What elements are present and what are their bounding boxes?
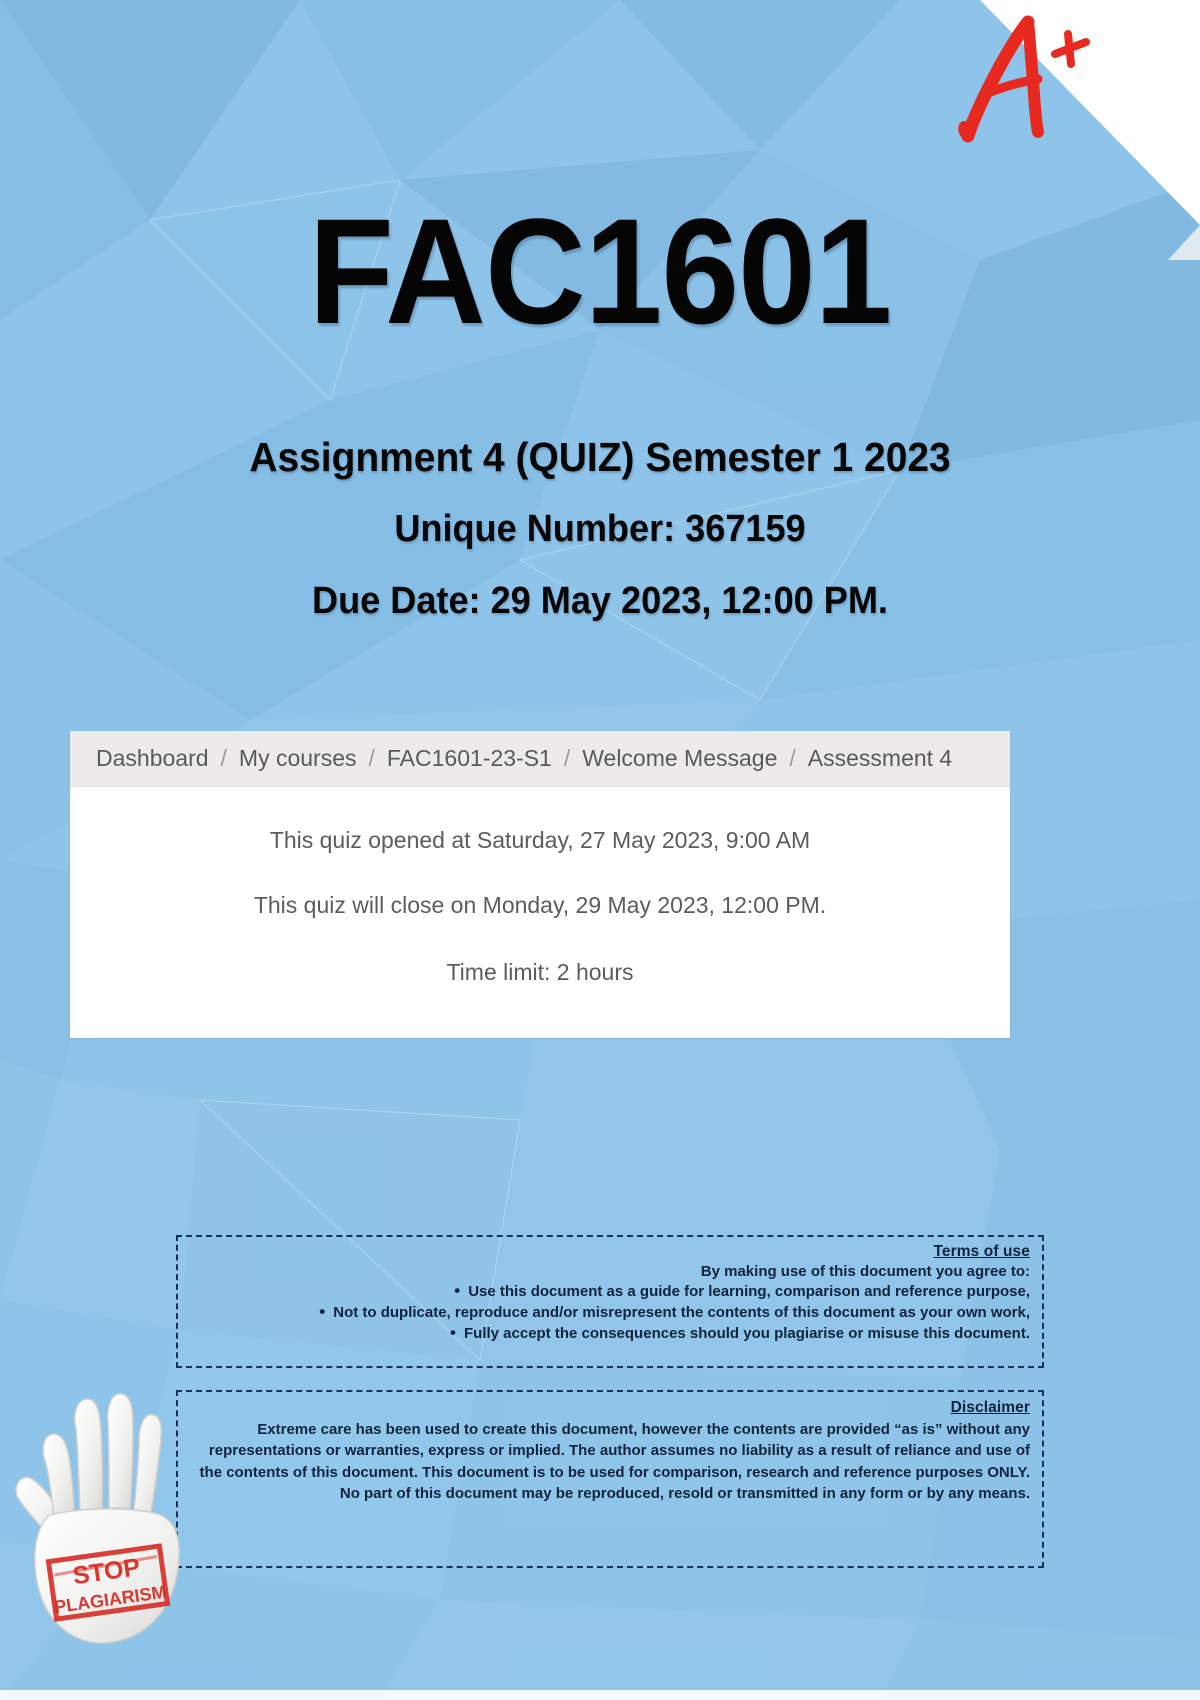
breadcrumb-separator: / <box>369 745 375 772</box>
unique-number: Unique Number: 367159 <box>30 508 1170 551</box>
terms-item-text: Fully accept the consequences should you… <box>464 1325 1030 1342</box>
breadcrumb-item-dashboard[interactable]: Dashboard <box>96 745 209 772</box>
breadcrumb-separator: / <box>221 745 227 772</box>
breadcrumb-item-my-courses[interactable]: My courses <box>239 745 357 772</box>
disclaimer-body: Extreme care has been used to create thi… <box>186 1419 1030 1504</box>
terms-lead: By making use of this document you agree… <box>186 1263 1030 1280</box>
moodle-quiz-card: Dashboard / My courses / FAC1601-23-S1 /… <box>70 731 1010 1038</box>
disclaimer-box: Disclaimer Extreme care has been used to… <box>176 1390 1044 1568</box>
page-title: FAC1601 <box>42 196 1158 346</box>
bullet-icon: • <box>454 1282 460 1299</box>
breadcrumb-separator: / <box>789 745 795 772</box>
bullet-icon: • <box>450 1324 456 1341</box>
bullet-icon: • <box>319 1303 325 1320</box>
due-date: Due Date: 29 May 2023, 12:00 PM. <box>30 580 1170 623</box>
breadcrumb-item-welcome-message[interactable]: Welcome Message <box>582 745 777 772</box>
quiz-time-limit: Time limit: 2 hours <box>70 959 1010 986</box>
list-item: •Fully accept the consequences should yo… <box>186 1325 1030 1342</box>
breadcrumb-item-course[interactable]: FAC1601-23-S1 <box>387 745 552 772</box>
terms-of-use-box: Terms of use By making use of this docum… <box>176 1235 1044 1368</box>
breadcrumb-item-assessment-4[interactable]: Assessment 4 <box>808 745 952 772</box>
quiz-open-time: This quiz opened at Saturday, 27 May 202… <box>70 827 1010 854</box>
breadcrumb-separator: / <box>564 745 570 772</box>
terms-item-text: Use this document as a guide for learnin… <box>468 1283 1030 1300</box>
stop-plagiarism-hand-icon: STOP PLAGIARISM <box>10 1368 200 1648</box>
list-item: •Not to duplicate, reproduce and/or misr… <box>186 1304 1030 1321</box>
list-item: •Use this document as a guide for learni… <box>186 1283 1030 1300</box>
terms-item-text: Not to duplicate, reproduce and/or misre… <box>333 1304 1030 1321</box>
assignment-subtitle: Assignment 4 (QUIZ) Semester 1 2023 <box>30 434 1170 481</box>
terms-list: •Use this document as a guide for learni… <box>186 1283 1034 1342</box>
breadcrumb: Dashboard / My courses / FAC1601-23-S1 /… <box>70 731 1010 787</box>
terms-heading: Terms of use <box>186 1243 1030 1261</box>
disclaimer-heading: Disclaimer <box>186 1399 1030 1417</box>
quiz-close-time: This quiz will close on Monday, 29 May 2… <box>70 892 1010 919</box>
